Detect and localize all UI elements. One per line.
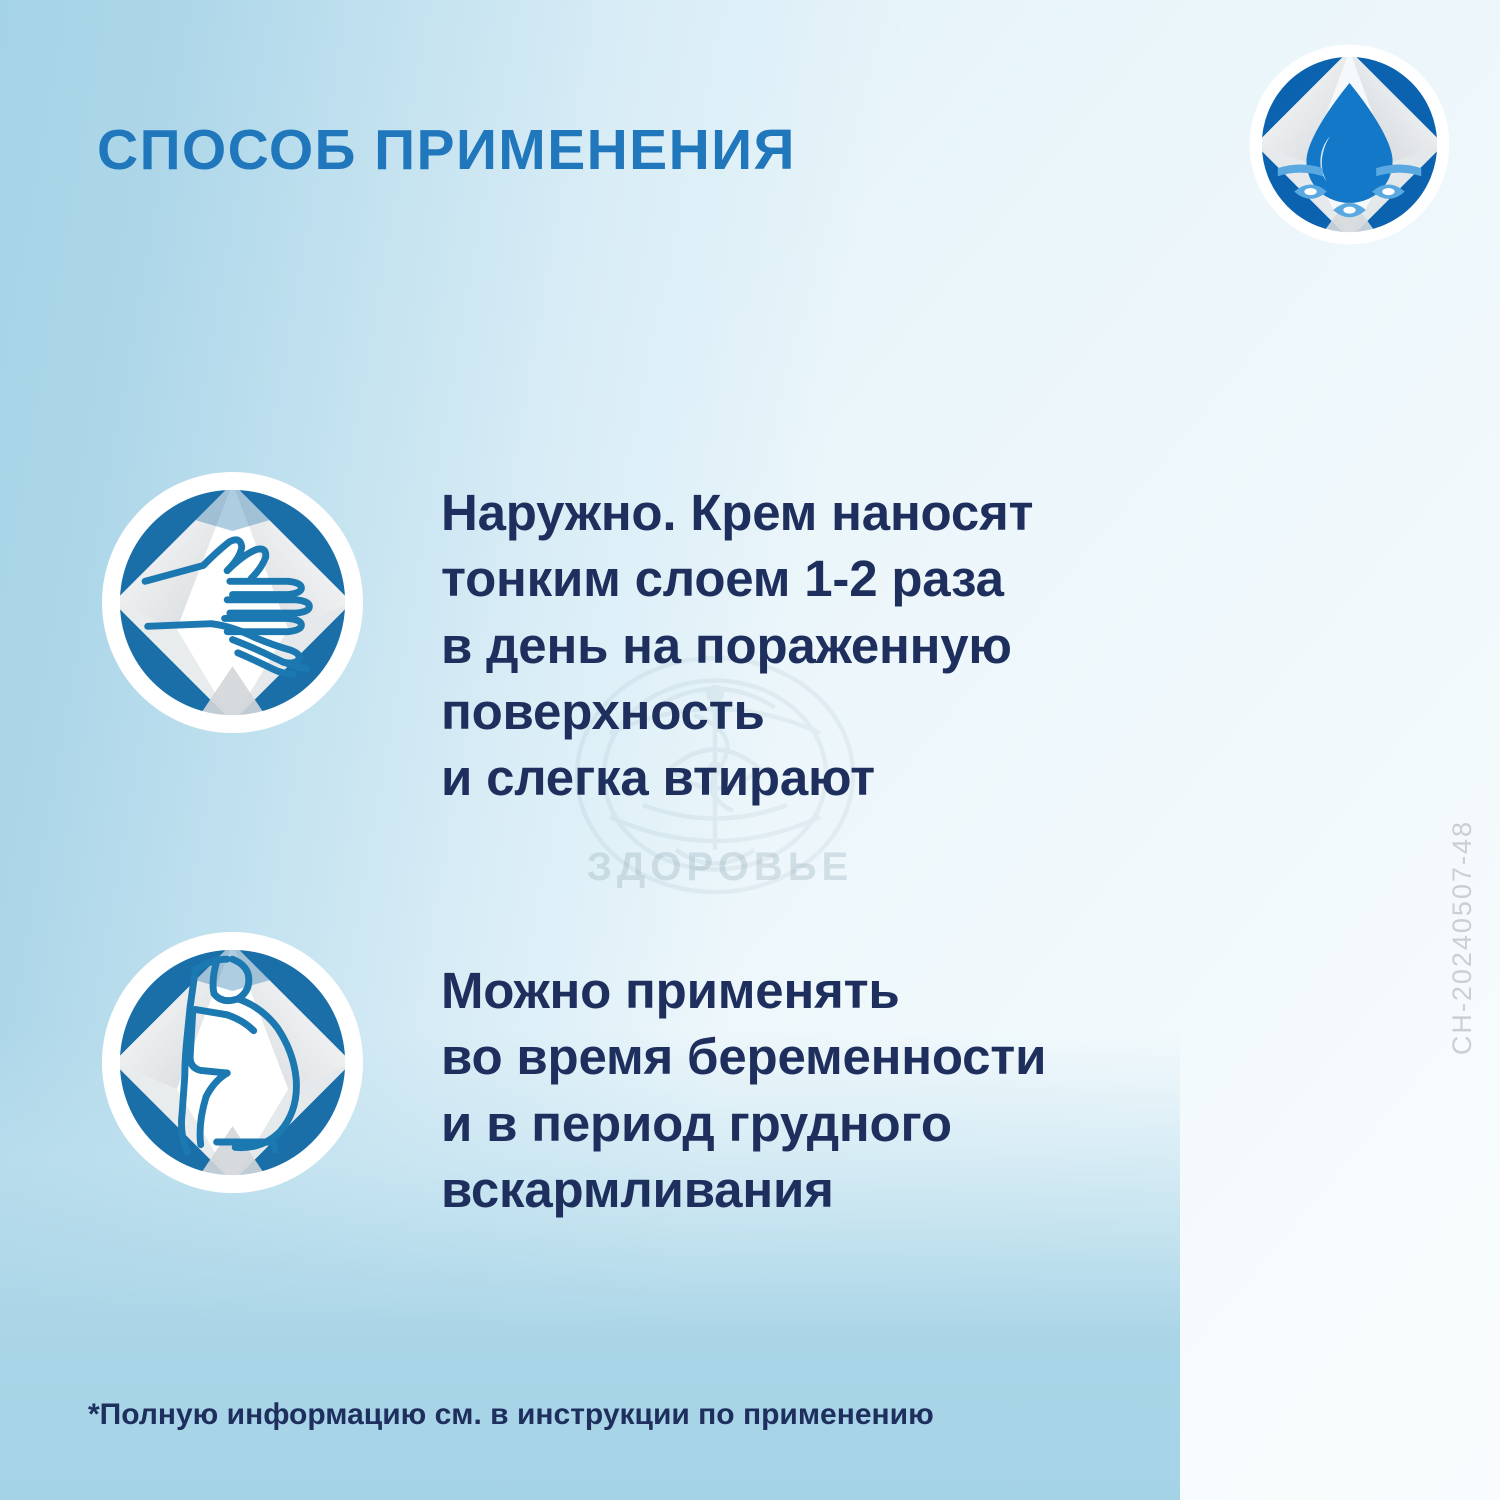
hands-applying-cream-icon	[100, 470, 365, 735]
section-application: Наружно. Крем наносят тонким слоем 1-2 р…	[100, 470, 1033, 811]
water-droplet-wave-logo-icon	[1247, 42, 1452, 247]
reference-code: CH-20240507-48	[1447, 820, 1478, 1055]
section-pregnancy: Можно применять во время беременности и …	[100, 930, 1046, 1223]
pregnant-woman-icon	[100, 930, 365, 1195]
infographic-poster: ЗДОРОВЬЕ СПОСОБ ПРИМЕНЕНИЯ	[0, 0, 1500, 1500]
page-title: СПОСОБ ПРИМЕНЕНИЯ	[97, 116, 857, 186]
footnote-text: *Полную информацию см. в инструкции по п…	[88, 1398, 934, 1432]
section-application-text: Наружно. Крем наносят тонким слоем 1-2 р…	[441, 470, 1033, 811]
section-pregnancy-text: Можно применять во время беременности и …	[441, 930, 1046, 1223]
